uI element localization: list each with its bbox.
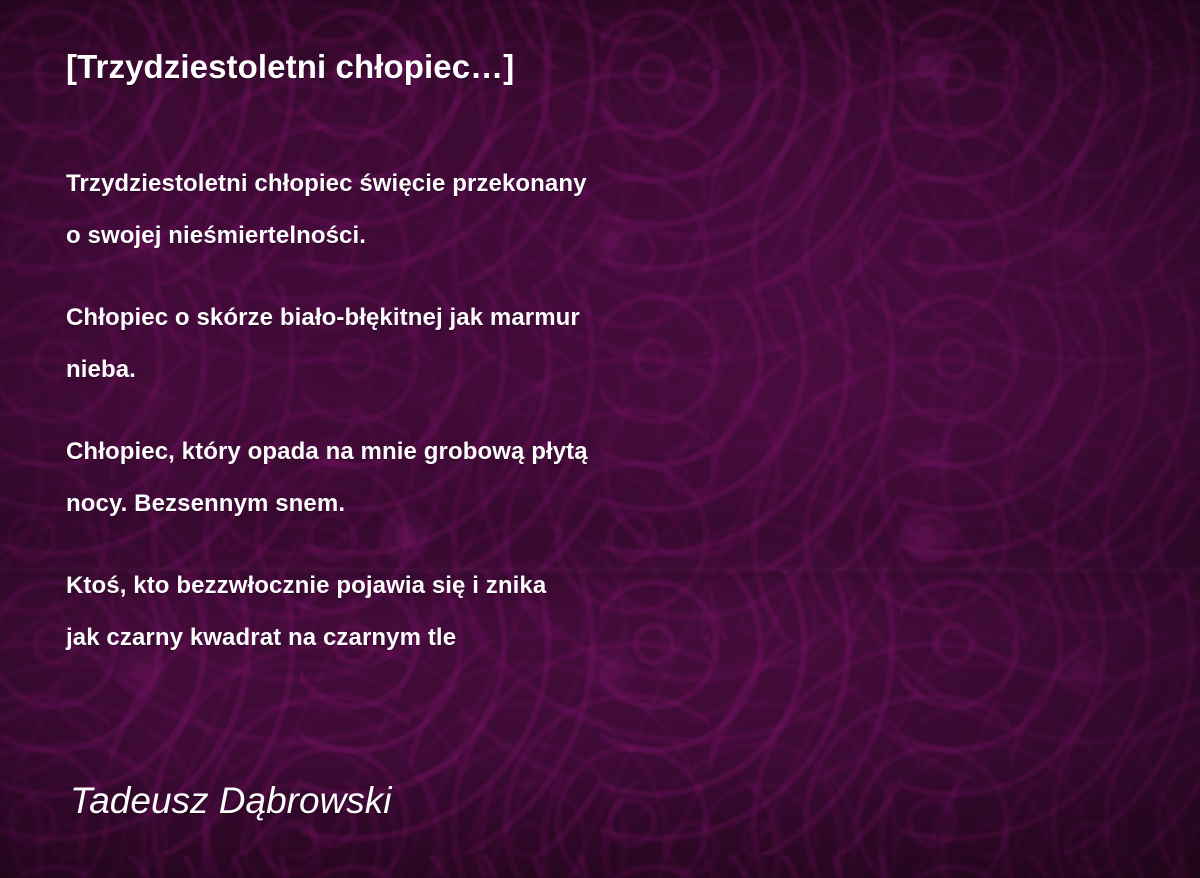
poem-body: Trzydziestoletni chłopiec święcie przeko… [66,158,966,664]
poem-title: [Trzydziestoletni chłopiec…] [66,48,514,86]
stanza: Ktoś, kto bezzwłocznie pojawia się i zni… [66,560,966,664]
poem-card: [Trzydziestoletni chłopiec…] Trzydziesto… [0,0,1200,878]
stanza: Trzydziestoletni chłopiec święcie przeko… [66,158,966,262]
poem-line: Chłopiec o skórze biało-błękitnej jak ma… [66,292,966,344]
stanza: Chłopiec, który opada na mnie grobową pł… [66,426,966,530]
poem-line: Chłopiec, który opada na mnie grobową pł… [66,426,966,478]
poem-line: jak czarny kwadrat na czarnym tle [66,612,966,664]
poem-line: nieba. [66,344,966,396]
stanza: Chłopiec o skórze biało-błękitnej jak ma… [66,292,966,396]
poem-line: o swojej nieśmiertelności. [66,210,966,262]
poem-line: nocy. Bezsennym snem. [66,478,966,530]
poem-line: Trzydziestoletni chłopiec święcie przeko… [66,158,966,210]
poem-line: Ktoś, kto bezzwłocznie pojawia się i zni… [66,560,966,612]
poem-author: Tadeusz Dąbrowski [70,780,392,823]
